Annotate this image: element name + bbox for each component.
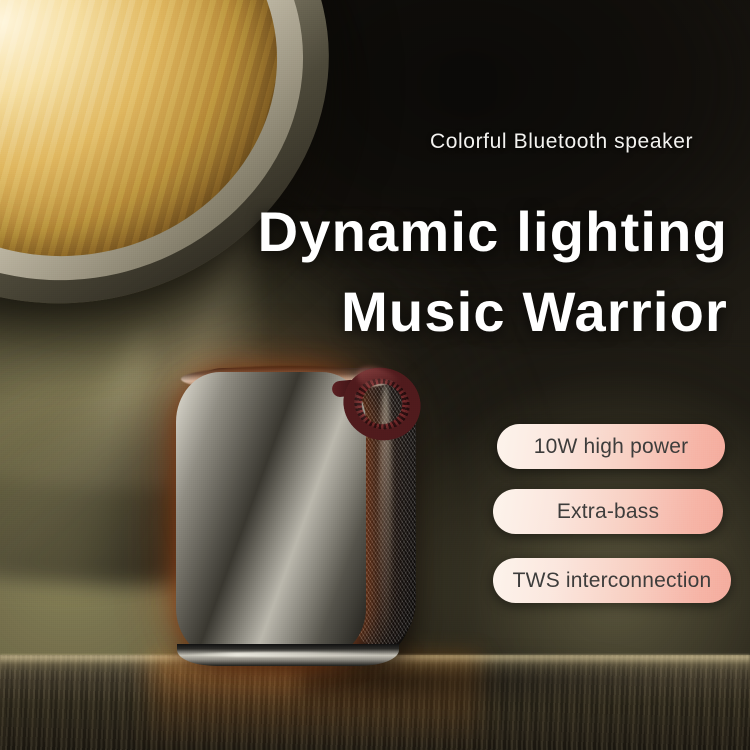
feature-pill-bass[interactable]: Extra-bass xyxy=(493,489,723,534)
feature-pill-power[interactable]: 10W high power xyxy=(497,424,725,469)
speaker-base-highlight xyxy=(185,652,385,657)
bluetooth-speaker-icon xyxy=(173,366,418,668)
headline-line-2: Music Warrior xyxy=(341,284,728,340)
advertisement-canvas: Colorful Bluetooth speaker Dynamic light… xyxy=(0,0,750,750)
speaker-light-panel xyxy=(181,376,361,654)
headline-line-1: Dynamic lighting xyxy=(258,204,728,260)
product-eyebrow-text: Colorful Bluetooth speaker xyxy=(430,130,693,154)
panel-inner-vignette xyxy=(181,376,361,654)
feature-pill-tws[interactable]: TWS interconnection xyxy=(493,558,731,603)
